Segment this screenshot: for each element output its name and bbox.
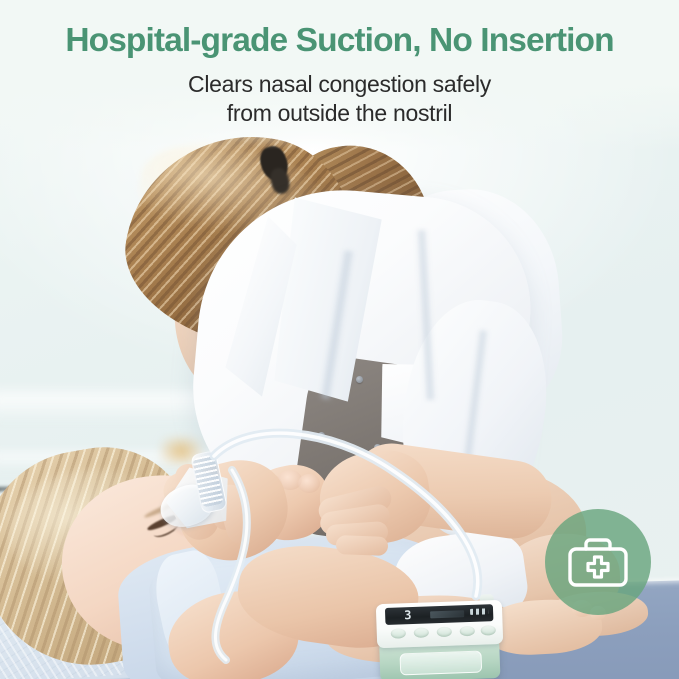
page-subtitle-line-2: from outside the nostril — [0, 99, 679, 128]
baby-knuckle — [298, 474, 320, 493]
clinician-finger — [336, 535, 389, 556]
marketing-image-canvas: 3 Hospital-grade Suction, No Insertion C… — [0, 0, 679, 679]
page-subtitle: Clears nasal congestion safely from outs… — [0, 61, 679, 127]
page-title: Hospital-grade Suction, No Insertion — [0, 0, 679, 61]
medical-kit-icon — [567, 536, 629, 588]
header-text-block: Hospital-grade Suction, No Insertion Cle… — [0, 0, 679, 127]
device-display-indicators — [470, 608, 488, 615]
first-aid-kit-badge — [545, 509, 651, 615]
device-collection-window — [400, 651, 483, 676]
lab-coat-button — [356, 376, 363, 383]
device-display-value: 3 — [404, 608, 412, 623]
lab-coat-button — [318, 432, 325, 439]
page-subtitle-line-1: Clears nasal congestion safely — [188, 71, 491, 97]
nasal-aspirator-device[interactable]: 3 — [376, 594, 507, 679]
device-display-bargraph — [430, 610, 464, 618]
